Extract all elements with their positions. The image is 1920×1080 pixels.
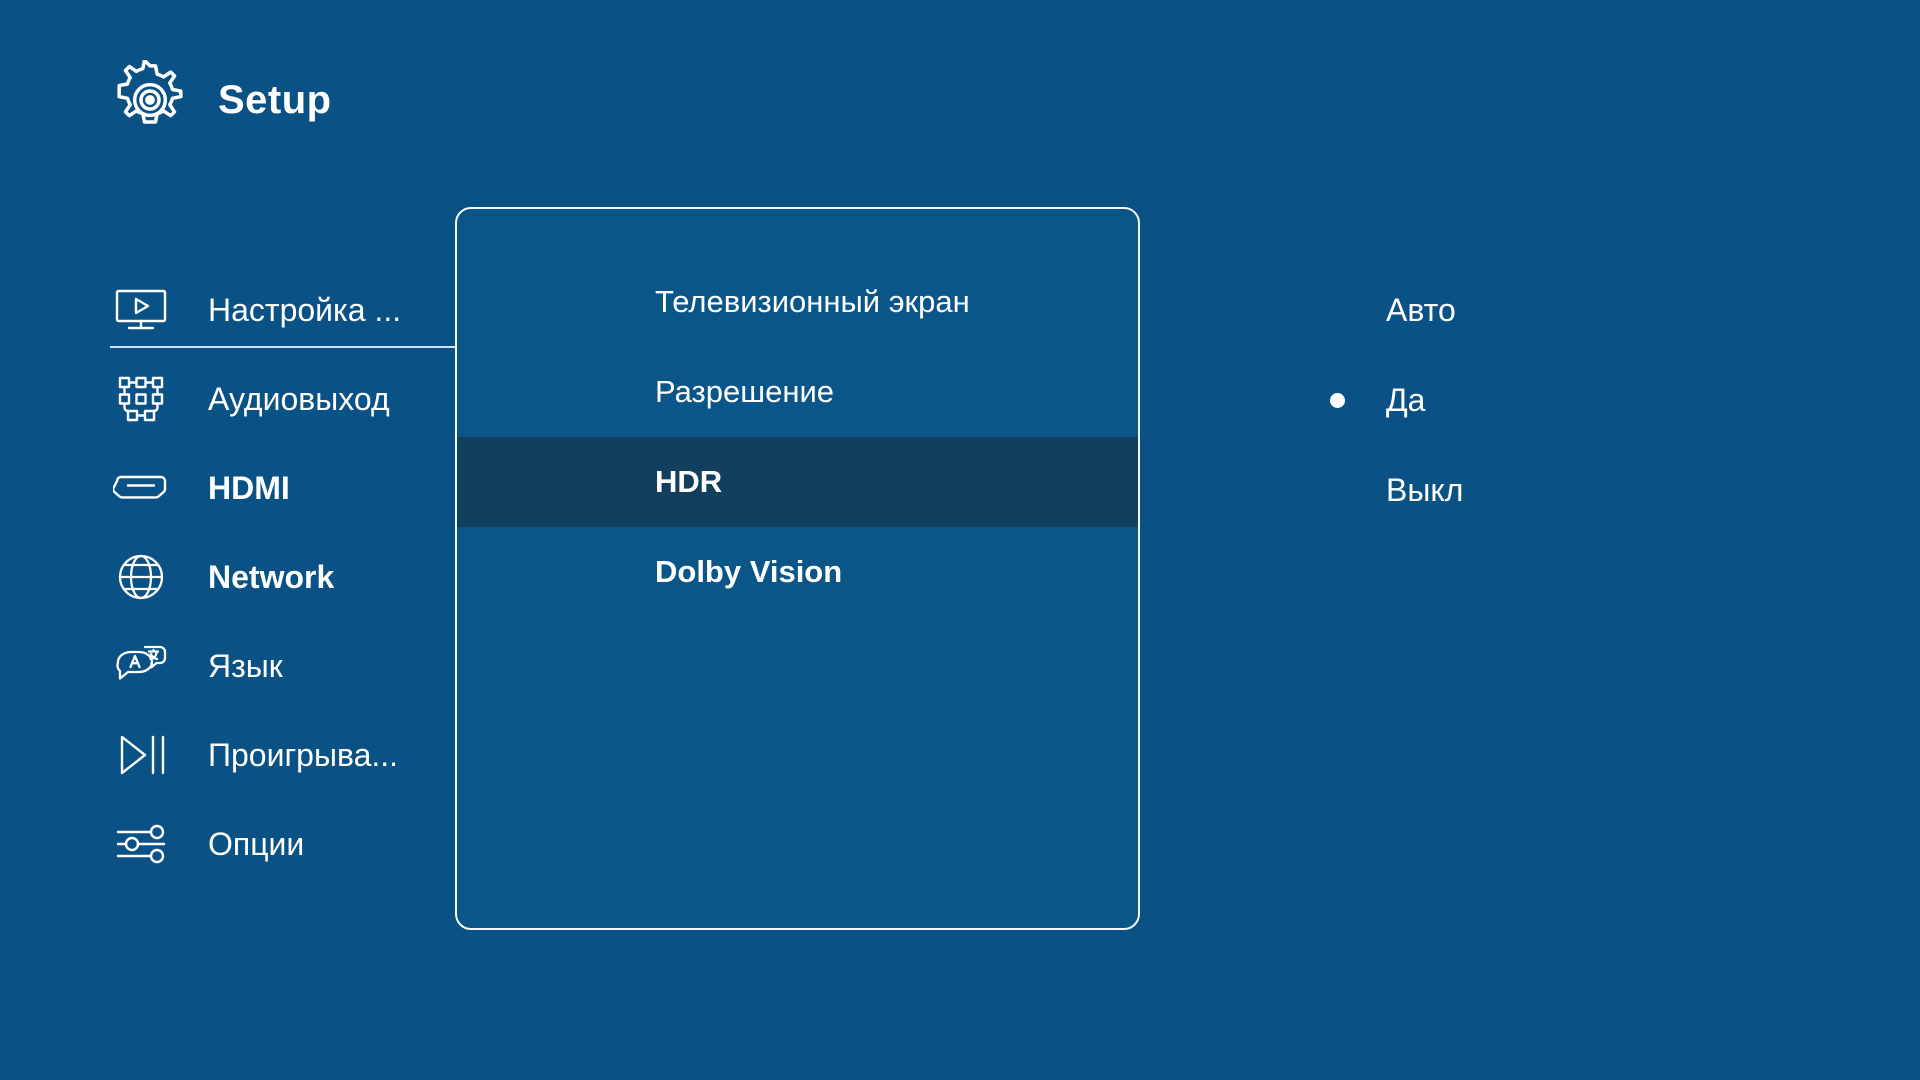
audio-grid-icon bbox=[110, 373, 172, 425]
panel-item-hdr[interactable]: HDR bbox=[457, 437, 1138, 527]
sidebar-item-label: Настройка ... bbox=[208, 294, 401, 326]
sidebar-item-label: Язык bbox=[208, 650, 283, 682]
play-pause-icon bbox=[110, 729, 172, 781]
sidebar-item-label: Опции bbox=[208, 828, 304, 860]
sidebar-item-label: HDMI bbox=[208, 472, 290, 504]
value-option-yes[interactable]: Да bbox=[1330, 355, 1730, 445]
sidebar: Настройка ... Аудиовыход bbox=[110, 265, 470, 888]
sidebar-item-label: Проигрыва... bbox=[208, 739, 398, 771]
globe-icon bbox=[110, 551, 172, 603]
gear-icon bbox=[110, 60, 190, 140]
sidebar-item-audio-output[interactable]: Аудиовыход bbox=[110, 354, 470, 443]
sidebar-item-playback[interactable]: Проигрыва... bbox=[110, 710, 470, 799]
sidebar-divider bbox=[110, 346, 457, 348]
sidebar-item-label: Network bbox=[208, 561, 334, 593]
value-label: Авто bbox=[1386, 294, 1456, 326]
radio-slot bbox=[1330, 393, 1386, 408]
value-option-off[interactable]: Выкл bbox=[1330, 445, 1730, 535]
value-label: Да bbox=[1386, 384, 1425, 416]
hdmi-connector-icon bbox=[110, 462, 172, 514]
panel-item-label: Dolby Vision bbox=[655, 554, 842, 590]
sidebar-item-hdmi[interactable]: HDMI bbox=[110, 443, 470, 532]
panel-item-tv-screen[interactable]: Телевизионный экран bbox=[457, 257, 1138, 347]
sliders-icon bbox=[110, 818, 172, 870]
tv-display-icon bbox=[110, 284, 172, 336]
panel-item-label: Телевизионный экран bbox=[655, 284, 970, 320]
page-header: Setup bbox=[110, 60, 332, 140]
translate-icon bbox=[110, 640, 172, 692]
radio-selected-icon bbox=[1330, 393, 1345, 408]
panel-item-label: Разрешение bbox=[655, 374, 834, 410]
sidebar-item-label: Аудиовыход bbox=[208, 383, 390, 415]
page-title: Setup bbox=[218, 80, 332, 120]
value-list: Авто Да Выкл bbox=[1330, 265, 1730, 535]
sidebar-item-network[interactable]: Network bbox=[110, 532, 470, 621]
sidebar-item-options[interactable]: Опции bbox=[110, 799, 470, 888]
sidebar-item-display[interactable]: Настройка ... bbox=[110, 265, 470, 354]
panel-item-resolution[interactable]: Разрешение bbox=[457, 347, 1138, 437]
sidebar-item-language[interactable]: Язык bbox=[110, 621, 470, 710]
setup-screen: Setup Настройка ... bbox=[0, 0, 1920, 1080]
value-label: Выкл bbox=[1386, 474, 1463, 506]
panel-item-label: HDR bbox=[655, 464, 722, 500]
panel-item-dolby-vision[interactable]: Dolby Vision bbox=[457, 527, 1138, 617]
submenu-panel: Телевизионный экран Разрешение HDR Dolby… bbox=[455, 207, 1140, 930]
value-option-auto[interactable]: Авто bbox=[1330, 265, 1730, 355]
